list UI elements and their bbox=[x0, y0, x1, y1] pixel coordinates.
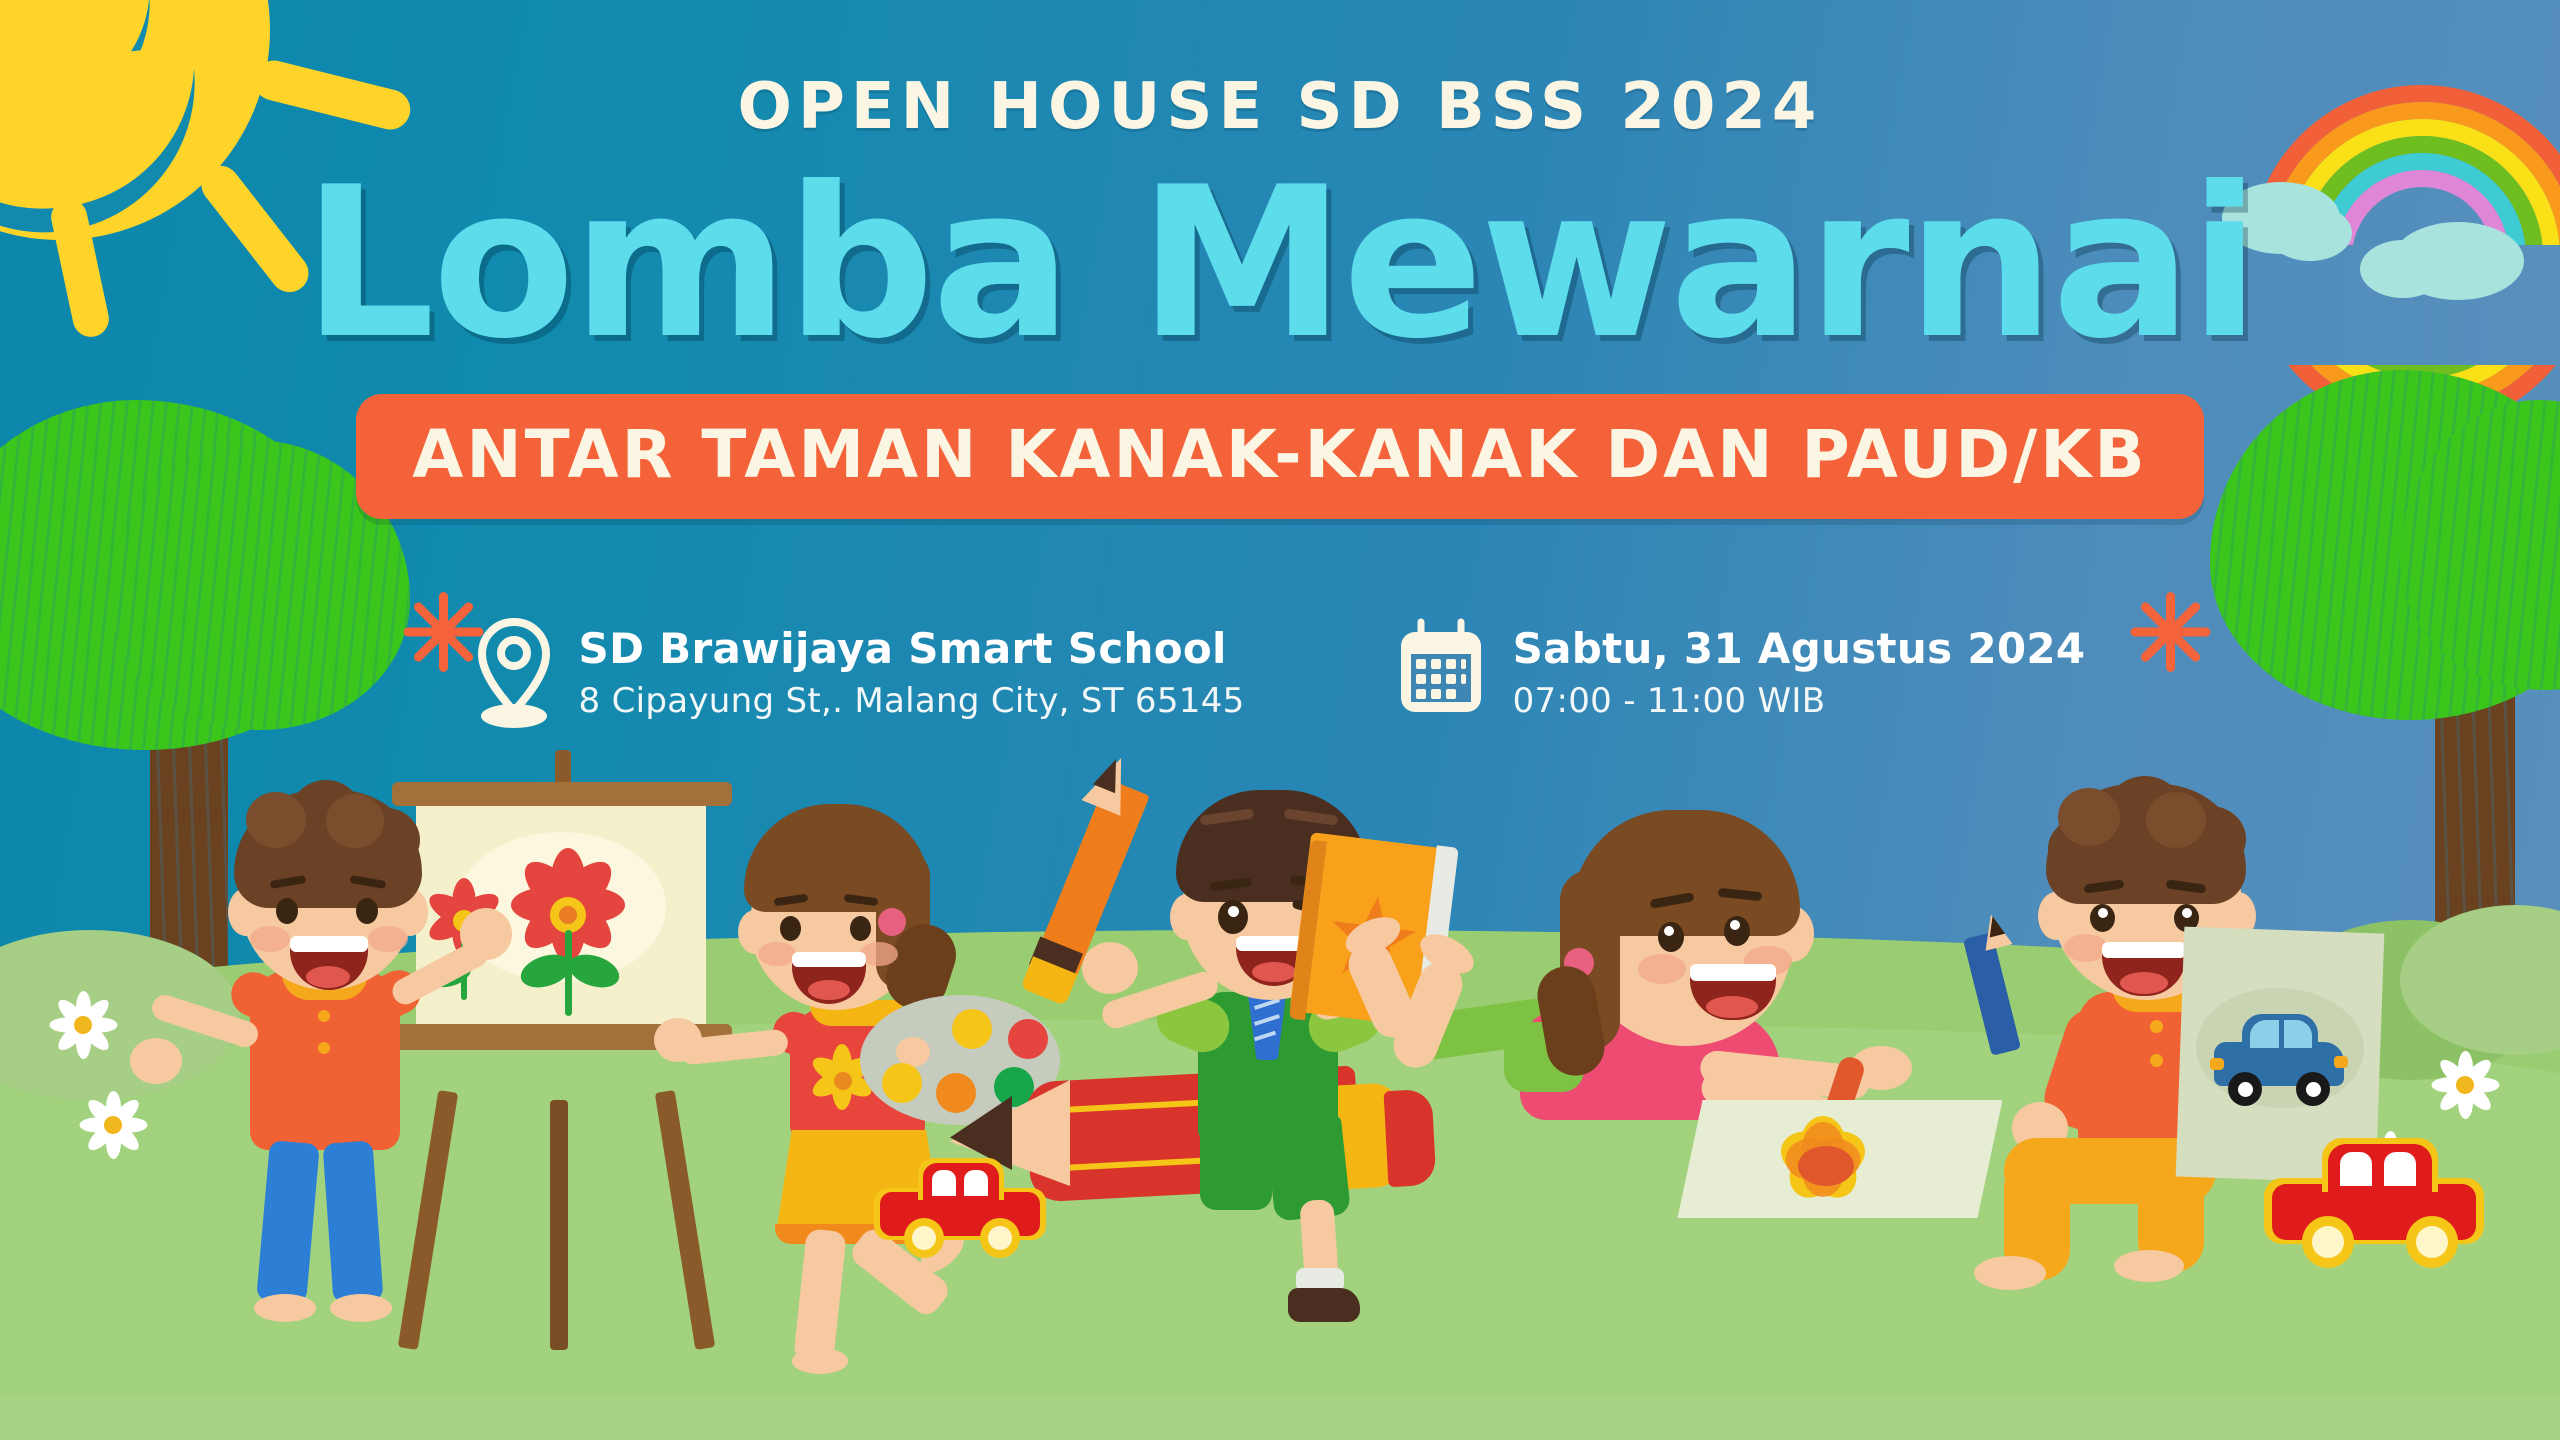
headline-block: OPEN HOUSE SD BSS 2024 Lomba Mewarnai AN… bbox=[0, 70, 2560, 519]
child-boy-waving bbox=[130, 770, 470, 1250]
kicker-text: OPEN HOUSE SD BSS 2024 bbox=[0, 70, 2560, 144]
orange-pencil bbox=[1020, 760, 1200, 1020]
blue-pencil bbox=[1955, 910, 2045, 1070]
location-address: 8 Cipayung St,. Malang City, ST 65145 bbox=[579, 681, 1245, 721]
schedule-time: 07:00 - 11:00 WIB bbox=[1513, 681, 2086, 721]
page-title: Lomba Mewarnai bbox=[0, 158, 2560, 370]
map-pin-icon bbox=[475, 618, 553, 733]
category-ribbon-label: ANTAR TAMAN KANAK-KANAK DAN PAUD/KB bbox=[412, 416, 2147, 493]
poster-canvas: OPEN HOUSE SD BSS 2024 Lomba Mewarnai AN… bbox=[0, 0, 2560, 1440]
red-toy-car-left bbox=[870, 1150, 1050, 1260]
schedule-date: Sabtu, 31 Agustus 2024 bbox=[1513, 624, 2086, 673]
calendar-icon bbox=[1395, 618, 1487, 723]
location-name: SD Brawijaya Smart School bbox=[579, 624, 1245, 673]
red-toy-car-right bbox=[2260, 1130, 2490, 1270]
daisy-left bbox=[48, 990, 118, 1060]
schedule-info: Sabtu, 31 Agustus 2024 07:00 - 11:00 WIB bbox=[1395, 618, 2086, 733]
location-info: SD Brawijaya Smart School 8 Cipayung St,… bbox=[475, 618, 1245, 733]
ground-strip bbox=[0, 1395, 2560, 1440]
orange-flower-drawing bbox=[1690, 1100, 1990, 1230]
daisy-right bbox=[2430, 1050, 2500, 1120]
category-ribbon: ANTAR TAMAN KANAK-KANAK DAN PAUD/KB bbox=[356, 394, 2203, 519]
info-row: SD Brawijaya Smart School 8 Cipayung St,… bbox=[0, 618, 2560, 733]
